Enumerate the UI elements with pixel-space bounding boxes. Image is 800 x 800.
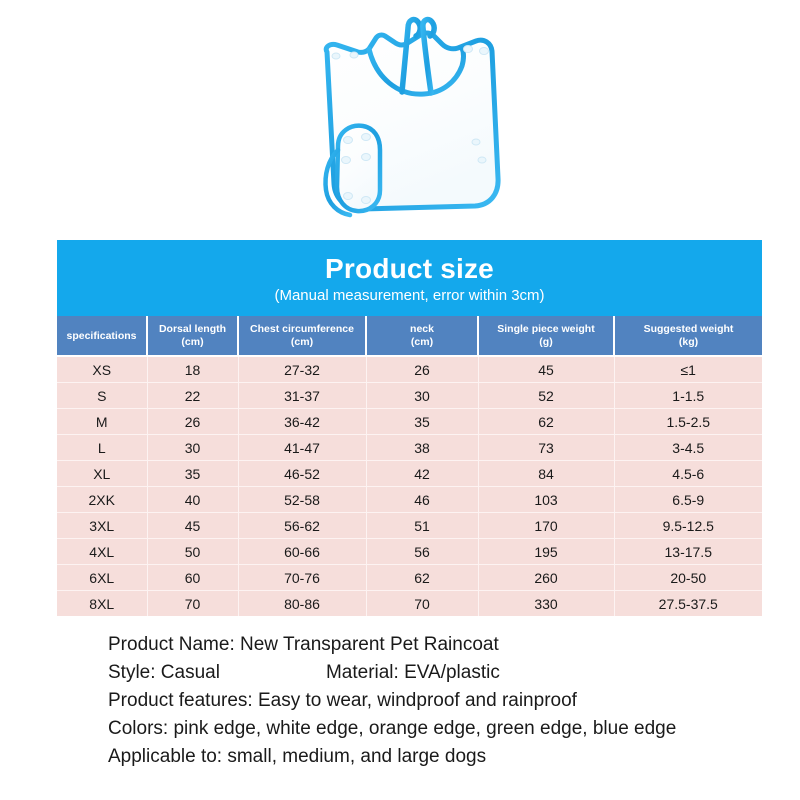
cell-value: 50 — [147, 539, 238, 565]
table-row: L3041-4738733-4.5 — [57, 435, 762, 461]
cell-value: 1-1.5 — [614, 383, 762, 409]
cell-value: 62 — [366, 565, 478, 591]
cell-size-label: S — [57, 383, 147, 409]
cell-value: 38 — [366, 435, 478, 461]
table-row: S2231-3730521-1.5 — [57, 383, 762, 409]
cell-value: 60-66 — [238, 539, 366, 565]
cell-value: 36-42 — [238, 409, 366, 435]
cell-value: 52 — [478, 383, 614, 409]
cell-value: 35 — [147, 461, 238, 487]
cell-size-label: 4XL — [57, 539, 147, 565]
cell-value: 40 — [147, 487, 238, 513]
desc-applicable: Applicable to: small, medium, and large … — [108, 743, 768, 771]
cell-value: 30 — [147, 435, 238, 461]
cell-value: 103 — [478, 487, 614, 513]
table-row: 6XL6070-766226020-50 — [57, 565, 762, 591]
cell-value: 84 — [478, 461, 614, 487]
cell-value: 9.5-12.5 — [614, 513, 762, 539]
cell-value: 70-76 — [238, 565, 366, 591]
desc-style-material: Style: CasualMaterial: EVA/plastic — [108, 659, 768, 687]
desc-style: Style: Casual — [108, 662, 220, 683]
table-row: 8XL7080-867033027.5-37.5 — [57, 591, 762, 617]
cell-value: 195 — [478, 539, 614, 565]
product-image — [290, 0, 520, 228]
cell-value: 42 — [366, 461, 478, 487]
column-header-neck: neck(cm) — [366, 316, 478, 356]
cell-size-label: XL — [57, 461, 147, 487]
cell-value: 260 — [478, 565, 614, 591]
table-body: XS1827-322645≤1S2231-3730521-1.5M2636-42… — [57, 356, 762, 616]
table-header-row: specifications Dorsal length(cm) Chest c… — [57, 316, 762, 356]
cell-value: 20-50 — [614, 565, 762, 591]
table-row: M2636-4235621.5-2.5 — [57, 409, 762, 435]
desc-material: Material: EVA/plastic — [326, 662, 500, 683]
cell-value: 51 — [366, 513, 478, 539]
cell-value: 52-58 — [238, 487, 366, 513]
column-header-single-piece-weight: Single piece weight(g) — [478, 316, 614, 356]
cell-value: 18 — [147, 356, 238, 383]
cell-size-label: M — [57, 409, 147, 435]
cell-value: 46-52 — [238, 461, 366, 487]
cell-value: 73 — [478, 435, 614, 461]
cell-value: 22 — [147, 383, 238, 409]
cell-value: 56-62 — [238, 513, 366, 539]
cell-value: 41-47 — [238, 435, 366, 461]
cell-value: 35 — [366, 409, 478, 435]
table-title-band: Product size (Manual measurement, error … — [57, 240, 762, 316]
cell-value: 70 — [366, 591, 478, 617]
product-description: Product Name: New Transparent Pet Rainco… — [108, 631, 768, 771]
cell-value: 45 — [147, 513, 238, 539]
cell-value: 170 — [478, 513, 614, 539]
cell-value: 46 — [366, 487, 478, 513]
cell-value: 13-17.5 — [614, 539, 762, 565]
column-header-suggested-weight: Suggested weight(kg) — [614, 316, 762, 356]
product-size-table: Product size (Manual measurement, error … — [57, 240, 762, 616]
cell-value: 62 — [478, 409, 614, 435]
table-row: 3XL4556-62511709.5-12.5 — [57, 513, 762, 539]
table-row: XS1827-322645≤1 — [57, 356, 762, 383]
cell-value: 6.5-9 — [614, 487, 762, 513]
cell-value: 27.5-37.5 — [614, 591, 762, 617]
cell-size-label: 2XK — [57, 487, 147, 513]
table-title: Product size — [57, 254, 762, 283]
cell-size-label: L — [57, 435, 147, 461]
table-subtitle: (Manual measurement, error within 3cm) — [57, 287, 762, 305]
column-header-chest-circumference: Chest circumference(cm) — [238, 316, 366, 356]
specs-table: specifications Dorsal length(cm) Chest c… — [57, 316, 762, 616]
cell-value: 1.5-2.5 — [614, 409, 762, 435]
desc-features: Product features: Easy to wear, windproo… — [108, 687, 768, 715]
cell-value: 31-37 — [238, 383, 366, 409]
cell-value: 3-4.5 — [614, 435, 762, 461]
cell-value: 26 — [366, 356, 478, 383]
column-header-specifications: specifications — [57, 316, 147, 356]
cell-size-label: 6XL — [57, 565, 147, 591]
cell-size-label: 3XL — [57, 513, 147, 539]
desc-product-name: Product Name: New Transparent Pet Rainco… — [108, 631, 768, 659]
cell-value: 56 — [366, 539, 478, 565]
cell-size-label: XS — [57, 356, 147, 383]
cell-value: 4.5-6 — [614, 461, 762, 487]
desc-colors: Colors: pink edge, white edge, orange ed… — [108, 715, 768, 743]
cell-value: 80-86 — [238, 591, 366, 617]
cell-value: ≤1 — [614, 356, 762, 383]
cell-value: 60 — [147, 565, 238, 591]
cell-value: 70 — [147, 591, 238, 617]
cell-value: 27-32 — [238, 356, 366, 383]
table-row: 2XK4052-58461036.5-9 — [57, 487, 762, 513]
cell-value: 45 — [478, 356, 614, 383]
table-row: XL3546-5242844.5-6 — [57, 461, 762, 487]
cell-value: 30 — [366, 383, 478, 409]
table-row: 4XL5060-665619513-17.5 — [57, 539, 762, 565]
cell-value: 330 — [478, 591, 614, 617]
raincoat-illustration — [290, 0, 520, 228]
cell-size-label: 8XL — [57, 591, 147, 617]
cell-value: 26 — [147, 409, 238, 435]
column-header-dorsal-length: Dorsal length(cm) — [147, 316, 238, 356]
